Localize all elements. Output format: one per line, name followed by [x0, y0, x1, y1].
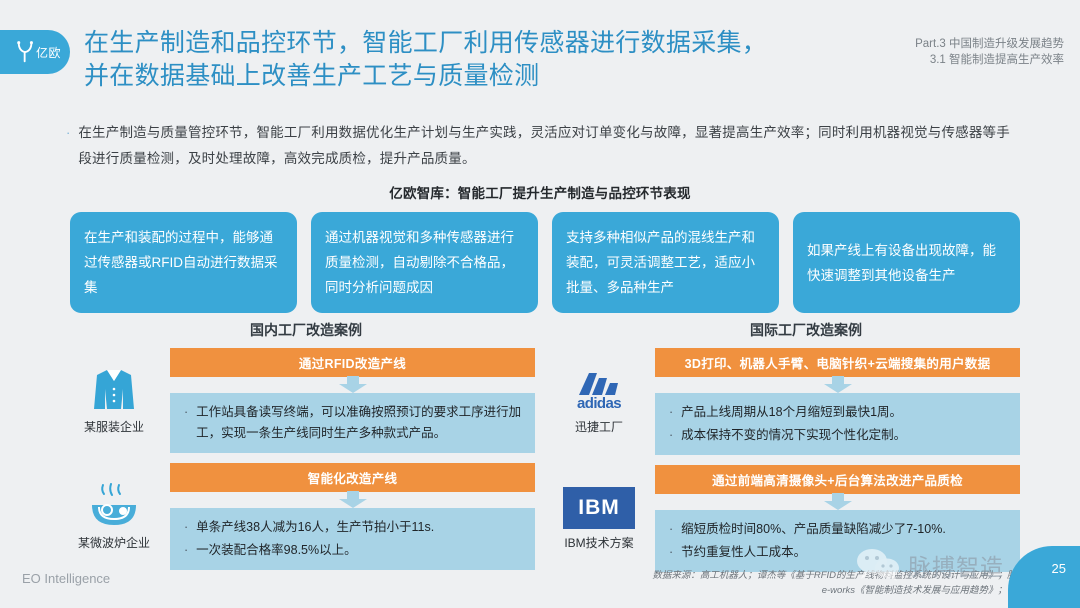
bullet-dot-icon: ·: [669, 519, 673, 540]
case-title-adidas: 3D打印、机器人手臂、电脑针织+云端搜集的用户数据: [655, 348, 1020, 377]
watermark-text: 脉搏智造: [908, 548, 1004, 582]
case-point: · 工作站具备读写终端，可以准确按照预订的要求工序进行加工，实现一条生产线同时生…: [184, 402, 523, 444]
case-row-adidas: adidas 迅捷工厂 3D打印、机器人手臂、电脑针织+云端搜集的用户数据 ·: [553, 348, 1020, 455]
arrow-connector-ibm: [655, 494, 1020, 510]
bullet-dot-icon: ·: [184, 517, 188, 538]
y-tree-logo-icon: [17, 41, 34, 63]
case-point-text: 单条产线38人减为16人，生产节拍小于11s.: [196, 517, 434, 538]
case-panels: 某服装企业 通过RFID改造产线 · 工作站具备读写终端，可以准确按照预订的要求…: [68, 348, 1020, 572]
intro-bullet-icon: ·: [66, 120, 70, 172]
bullet-dot-icon: ·: [184, 540, 188, 561]
part-line-2: 3.1 智能制造提高生产效率: [915, 52, 1064, 68]
adidas-wordmark: adidas: [577, 395, 621, 412]
section-heading-domestic: 国内工厂改造案例: [250, 320, 362, 340]
intro-text: 在生产制造与质量管控环节，智能工厂利用数据优化生产计划与生产实践，灵活应对订单变…: [78, 120, 1016, 172]
intro-paragraph: · 在生产制造与质量管控环节，智能工厂利用数据优化生产计划与生产实践，灵活应对订…: [66, 120, 1016, 172]
case-body-microwave: 智能化改造产线 · 单条产线38人减为16人，生产节拍小于11s. ·: [170, 463, 535, 570]
steaming-bowl-icon: [87, 483, 141, 529]
case-brand-adidas: adidas 迅捷工厂: [553, 348, 645, 455]
arrow-connector-apparel: [170, 377, 535, 393]
down-arrow-icon: [821, 493, 855, 510]
part-line-1: Part.3 中国制造升级发展趋势: [915, 36, 1064, 52]
case-brand-label-ibm: IBM技术方案: [564, 534, 633, 551]
case-point-text: 成本保持不变的情况下实现个性化定制。: [681, 425, 906, 446]
down-arrow-icon: [336, 376, 370, 393]
case-body-apparel: 通过RFID改造产线 · 工作站具备读写终端，可以准确按照预订的要求工序进行加工…: [170, 348, 535, 453]
case-point: · 缩短质检时间80%、产品质量缺陷减少了7-10%.: [669, 519, 1008, 540]
arrow-connector-microwave: [170, 492, 535, 508]
page-title: 在生产制造和品控环节，智能工厂利用传感器进行数据采集， 并在数据基础上改善生产工…: [84, 26, 864, 92]
case-point: · 成本保持不变的情况下实现个性化定制。: [669, 425, 1008, 446]
case-point-text: 缩短质检时间80%、产品质量缺陷减少了7-10%.: [681, 519, 946, 540]
case-brand-label-microwave: 某微波炉企业: [78, 534, 150, 551]
case-point: · 产品上线周期从18个月缩短到最快1周。: [669, 402, 1008, 423]
feature-box-4-text: 如果产线上有设备出现故障，能快速调整到其他设备生产: [807, 238, 1006, 288]
slide-root: 亿欧 在生产制造和品控环节，智能工厂利用传感器进行数据采集， 并在数据基础上改善…: [0, 0, 1080, 608]
case-body-adidas: 3D打印、机器人手臂、电脑针织+云端搜集的用户数据 · 产品上线周期从18个月缩…: [655, 348, 1020, 455]
watermark: 脉搏智造: [856, 548, 1004, 582]
page-number: 25: [1052, 561, 1066, 576]
case-title-ibm: 通过前端高清摄像头+后台算法改进产品质检: [655, 465, 1020, 494]
case-column-domestic: 某服装企业 通过RFID改造产线 · 工作站具备读写终端，可以准确按照预订的要求…: [68, 348, 535, 572]
feature-box-3-text: 支持多种相似产品的混线生产和装配，可灵活调整工艺，适应小批量、多品种生产: [566, 225, 765, 300]
case-points-adidas: · 产品上线周期从18个月缩短到最快1周。 · 成本保持不变的情况下实现个性化定…: [655, 393, 1020, 455]
section-heading-international: 国际工厂改造案例: [750, 320, 862, 340]
arrow-connector-adidas: [655, 377, 1020, 393]
case-point-text: 工作站具备读写终端，可以准确按照预订的要求工序进行加工，实现一条生产线同时生产多…: [196, 402, 523, 444]
wechat-icon: [856, 548, 900, 582]
down-arrow-icon: [821, 376, 855, 393]
adidas-logo-icon: adidas: [568, 369, 630, 413]
case-point: · 一次装配合格率98.5%以上。: [184, 540, 523, 561]
case-point: · 单条产线38人减为16人，生产节拍小于11s.: [184, 517, 523, 538]
case-brand-microwave: 某微波炉企业: [68, 463, 160, 570]
case-brand-ibm: IBM IBM技术方案: [553, 465, 645, 572]
feature-box-3: 支持多种相似产品的混线生产和装配，可灵活调整工艺，适应小批量、多品种生产: [552, 212, 779, 313]
adidas-bars-icon: [571, 369, 627, 395]
case-point-text: 节约重复性人工成本。: [681, 542, 806, 563]
bullet-dot-icon: ·: [669, 425, 673, 446]
case-row-microwave: 某微波炉企业 智能化改造产线 · 单条产线38人减为16人，生产节拍小于11s.: [68, 463, 535, 570]
feature-box-1-text: 在生产和装配的过程中，能够通过传感器或RFID自动进行数据采集: [84, 225, 283, 300]
feature-box-4: 如果产线上有设备出现故障，能快速调整到其他设备生产: [793, 212, 1020, 313]
feature-box-row: 在生产和装配的过程中，能够通过传感器或RFID自动进行数据采集 通过机器视觉和多…: [70, 212, 1020, 313]
case-point-text: 产品上线周期从18个月缩短到最快1周。: [681, 402, 902, 423]
ibm-wordmark: IBM: [578, 496, 620, 520]
jacket-icon: [90, 367, 138, 413]
bullet-dot-icon: ·: [669, 402, 673, 423]
headline-line-1: 在生产制造和品控环节，智能工厂利用传感器进行数据采集，: [84, 26, 864, 59]
part-label: Part.3 中国制造升级发展趋势 3.1 智能制造提高生产效率: [915, 36, 1064, 68]
case-row-apparel: 某服装企业 通过RFID改造产线 · 工作站具备读写终端，可以准确按照预订的要求…: [68, 348, 535, 453]
feature-box-1: 在生产和装配的过程中，能够通过传感器或RFID自动进行数据采集: [70, 212, 297, 313]
bullet-dot-icon: ·: [184, 402, 188, 444]
ibm-logo-icon: IBM: [563, 487, 635, 529]
brand-logo: 亿欧: [0, 30, 70, 74]
feature-box-2: 通过机器视觉和多种传感器进行质量检测，自动剔除不合格品，同时分析问题成因: [311, 212, 538, 313]
chart-subtitle: 亿欧智库：智能工厂提升生产制造与品控环节表现: [0, 182, 1080, 202]
case-point-text: 一次装配合格率98.5%以上。: [196, 540, 356, 561]
case-brand-label-adidas: 迅捷工厂: [575, 418, 623, 435]
case-brand-label-apparel: 某服装企业: [84, 418, 144, 435]
case-points-apparel: · 工作站具备读写终端，可以准确按照预订的要求工序进行加工，实现一条生产线同时生…: [170, 393, 535, 453]
bullet-dot-icon: ·: [669, 542, 673, 563]
source-line-2: e-works《智能制造技术发展与应用趋势》；亿欧智库整理: [484, 583, 1064, 598]
footer-brand: EO Intelligence: [22, 571, 110, 586]
case-title-apparel: 通过RFID改造产线: [170, 348, 535, 377]
feature-box-2-text: 通过机器视觉和多种传感器进行质量检测，自动剔除不合格品，同时分析问题成因: [325, 225, 524, 300]
case-points-microwave: · 单条产线38人减为16人，生产节拍小于11s. · 一次装配合格率98.5%…: [170, 508, 535, 570]
logo-text: 亿欧: [36, 44, 61, 61]
case-brand-apparel: 某服装企业: [68, 348, 160, 453]
case-title-microwave: 智能化改造产线: [170, 463, 535, 492]
headline-line-2: 并在数据基础上改善生产工艺与质量检测: [84, 59, 864, 92]
down-arrow-icon: [336, 491, 370, 508]
case-column-international: adidas 迅捷工厂 3D打印、机器人手臂、电脑针织+云端搜集的用户数据 ·: [553, 348, 1020, 572]
